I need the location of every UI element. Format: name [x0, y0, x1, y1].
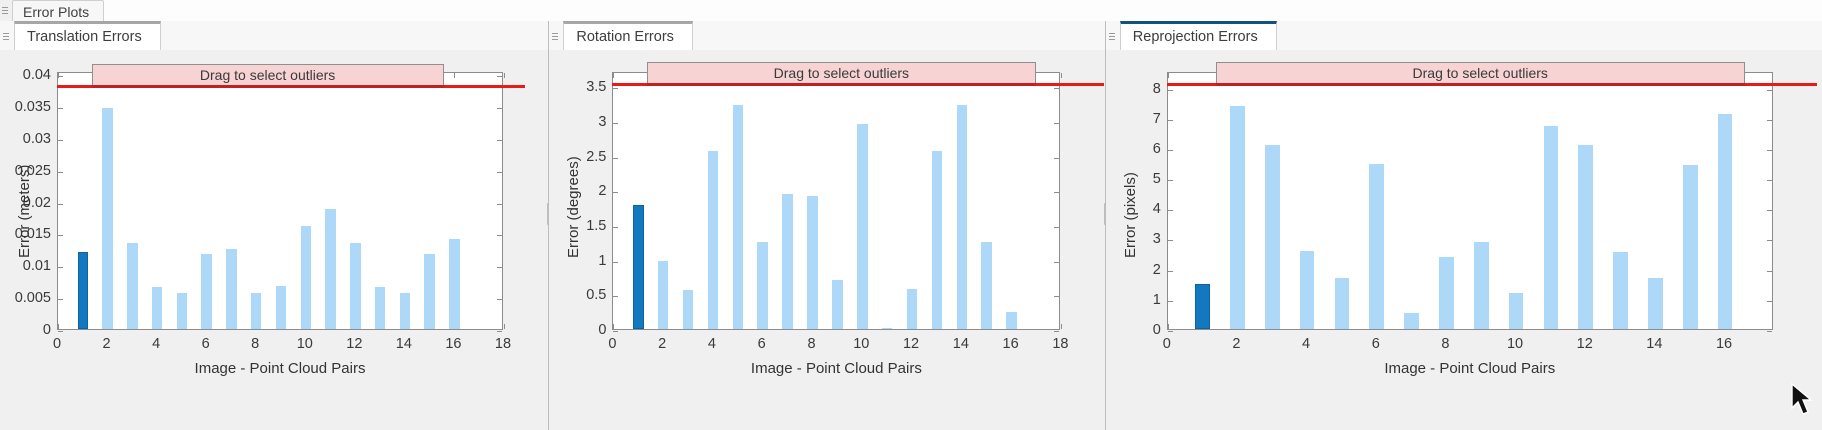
x-tick-label: 8: [1441, 336, 1449, 352]
bar[interactable]: [1335, 278, 1350, 329]
y-tick-label: 3: [598, 114, 606, 130]
x-tick-label: 6: [202, 336, 210, 352]
y-tick-label: 0.5: [586, 287, 606, 303]
bar[interactable]: [127, 243, 137, 329]
bar[interactable]: [932, 151, 942, 329]
bar[interactable]: [658, 261, 668, 329]
bar[interactable]: [375, 287, 385, 329]
y-tick-label: 1.5: [586, 218, 606, 234]
bar[interactable]: [782, 194, 792, 329]
bar[interactable]: [1265, 145, 1280, 329]
y-tick-label: 0.03: [23, 131, 51, 147]
bar[interactable]: [857, 124, 867, 329]
bar[interactable]: [957, 105, 967, 329]
x-tick-label: 14: [1646, 336, 1662, 352]
bar[interactable]: [1613, 252, 1628, 329]
bar[interactable]: [424, 254, 434, 329]
bar[interactable]: [1544, 126, 1559, 329]
bar[interactable]: [882, 328, 892, 329]
bar[interactable]: [1578, 145, 1593, 329]
x-tick-label: 14: [953, 336, 969, 352]
bar[interactable]: [177, 293, 187, 329]
x-tick-label: 14: [396, 336, 412, 352]
error-plots-window: Error Plots Translation Errors Drag to s…: [0, 0, 1822, 430]
document-tab-grip-icon[interactable]: [2, 4, 8, 17]
plot-area[interactable]: [57, 72, 503, 330]
y-tick-label: 8: [1153, 81, 1161, 97]
bar[interactable]: [708, 151, 718, 329]
y-tick-label: 5: [1153, 171, 1161, 187]
x-tick-label: 2: [103, 336, 111, 352]
plot-area[interactable]: [612, 72, 1060, 330]
drag-to-select-outliers-band[interactable]: Drag to select outliers: [647, 62, 1035, 84]
x-tick-label: 4: [708, 336, 716, 352]
x-tick-label: 8: [807, 336, 815, 352]
x-tick-label: 2: [1232, 336, 1240, 352]
x-tick-label: 6: [1372, 336, 1380, 352]
x-tick-label: 0: [608, 336, 616, 352]
outlier-band-baseline: [1216, 83, 1745, 86]
y-tick-label: 2: [598, 183, 606, 199]
x-tick-label: 8: [251, 336, 259, 352]
y-tick-label: 4: [1153, 201, 1161, 217]
drag-to-select-outliers-band[interactable]: Drag to select outliers: [1216, 62, 1745, 84]
bar[interactable]: [325, 209, 335, 329]
tabbar-3: Reprojection Errors: [1106, 21, 1822, 51]
x-axis-title: Image - Point Cloud Pairs: [1167, 360, 1773, 377]
panel-reprojection-errors: Reprojection Errors Drag to select outli…: [1106, 21, 1822, 430]
plot-area[interactable]: [1167, 72, 1773, 330]
y-tick-label: 3.5: [586, 79, 606, 95]
bar[interactable]: [1006, 312, 1016, 329]
y-tick-label: 2.5: [586, 149, 606, 165]
bar[interactable]: [102, 108, 112, 329]
document-tab-label: Error Plots: [23, 4, 89, 20]
x-tick-label: 2: [658, 336, 666, 352]
tab-label-3: Reprojection Errors: [1133, 29, 1258, 45]
x-tick-label: 10: [1507, 336, 1523, 352]
y-tick-label: 3: [1153, 231, 1161, 247]
tab-grip-icon-3[interactable]: [1109, 30, 1115, 43]
bar[interactable]: [152, 287, 162, 329]
bar-selected[interactable]: [1195, 284, 1210, 329]
y-tick-label: 0.04: [23, 67, 51, 83]
figure-1: Drag to select outliers00.0050.010.0150.…: [0, 50, 548, 430]
bar[interactable]: [449, 239, 459, 329]
bar[interactable]: [1648, 278, 1663, 329]
bar[interactable]: [251, 293, 261, 329]
bar[interactable]: [757, 242, 767, 329]
x-tick-label: 16: [1003, 336, 1019, 352]
y-tick-label: 1: [598, 253, 606, 269]
bar[interactable]: [1718, 114, 1733, 329]
figure-3: Drag to select outliers01234567802468101…: [1106, 50, 1822, 430]
bar[interactable]: [1683, 165, 1698, 329]
x-tick-label: 18: [1052, 336, 1068, 352]
bar[interactable]: [733, 105, 743, 329]
outlier-band-label: Drag to select outliers: [774, 65, 909, 81]
tab-reprojection-errors[interactable]: Reprojection Errors: [1120, 21, 1277, 50]
bar[interactable]: [1474, 242, 1489, 329]
panel-translation-errors: Translation Errors Drag to select outlie…: [0, 21, 548, 430]
tab-label-1: Translation Errors: [27, 29, 142, 45]
y-tick-label: 1: [1153, 292, 1161, 308]
bar-selected[interactable]: [633, 205, 643, 329]
y-tick-label: 0.035: [15, 99, 51, 115]
figure-2: Drag to select outliers00.511.522.533.50…: [549, 50, 1104, 430]
x-tick-label: 12: [346, 336, 362, 352]
x-tick-label: 16: [445, 336, 461, 352]
y-tick-label: 0.005: [15, 290, 51, 306]
bar[interactable]: [350, 243, 360, 329]
document-tabbar: Error Plots: [0, 0, 1822, 22]
x-axis-title: Image - Point Cloud Pairs: [612, 360, 1060, 377]
x-tick-label: 16: [1716, 336, 1732, 352]
tabbar-1: Translation Errors: [0, 21, 548, 51]
y-axis-title: Error (degrees): [565, 156, 582, 258]
tab-rotation-errors[interactable]: Rotation Errors: [563, 21, 693, 50]
tabbar-2: Rotation Errors: [549, 21, 1104, 51]
x-tick-label: 4: [152, 336, 160, 352]
y-tick-label: 7: [1153, 111, 1161, 127]
y-tick-label: 0: [43, 322, 51, 338]
outlier-band-label: Drag to select outliers: [1413, 65, 1548, 81]
document-tabbar-filler: [100, 0, 1822, 22]
x-tick-label: 10: [297, 336, 313, 352]
outlier-band-baseline: [647, 83, 1035, 86]
bar[interactable]: [400, 293, 410, 329]
bar[interactable]: [1369, 164, 1384, 329]
bar[interactable]: [1404, 313, 1419, 329]
bar[interactable]: [301, 226, 311, 329]
x-tick-label: 12: [903, 336, 919, 352]
y-tick-label: 0: [1153, 322, 1161, 338]
bar[interactable]: [1300, 251, 1315, 329]
x-tick-label: 4: [1302, 336, 1310, 352]
drag-to-select-outliers-band[interactable]: Drag to select outliers: [92, 64, 444, 86]
x-tick-label: 6: [758, 336, 766, 352]
bar[interactable]: [807, 196, 817, 329]
x-tick-label: 0: [53, 336, 61, 352]
y-tick-label: 0.01: [23, 258, 51, 274]
bar-selected[interactable]: [78, 252, 88, 329]
panel-row: Translation Errors Drag to select outlie…: [0, 21, 1822, 430]
bar[interactable]: [1439, 257, 1454, 329]
bar[interactable]: [907, 289, 917, 329]
x-tick-label: 0: [1163, 336, 1171, 352]
bar[interactable]: [1509, 293, 1524, 330]
outlier-band-label: Drag to select outliers: [200, 67, 335, 83]
x-tick-label: 18: [495, 336, 511, 352]
x-tick-label: 12: [1577, 336, 1593, 352]
tab-grip-icon-1[interactable]: [3, 30, 9, 43]
x-tick-label: 10: [853, 336, 869, 352]
bar[interactable]: [276, 286, 286, 329]
tab-translation-errors[interactable]: Translation Errors: [14, 21, 161, 50]
tab-label-2: Rotation Errors: [576, 29, 674, 45]
y-tick-label: 2: [1153, 262, 1161, 278]
document-tab-error-plots[interactable]: Error Plots: [12, 0, 104, 22]
y-tick-label: 0: [598, 322, 606, 338]
y-axis-title: Error (meters): [16, 164, 33, 257]
bar[interactable]: [981, 242, 991, 329]
x-axis-title: Image - Point Cloud Pairs: [57, 360, 503, 377]
panel-rotation-errors: Rotation Errors Drag to select outliers0…: [549, 21, 1104, 430]
bar[interactable]: [1230, 106, 1245, 329]
bar[interactable]: [226, 249, 236, 329]
y-axis-title: Error (pixels): [1122, 172, 1139, 258]
bar[interactable]: [683, 290, 693, 329]
y-tick-label: 6: [1153, 141, 1161, 157]
bar[interactable]: [201, 254, 211, 329]
tab-grip-icon-2[interactable]: [552, 30, 558, 43]
outlier-band-baseline: [92, 85, 444, 88]
bar[interactable]: [832, 280, 842, 329]
